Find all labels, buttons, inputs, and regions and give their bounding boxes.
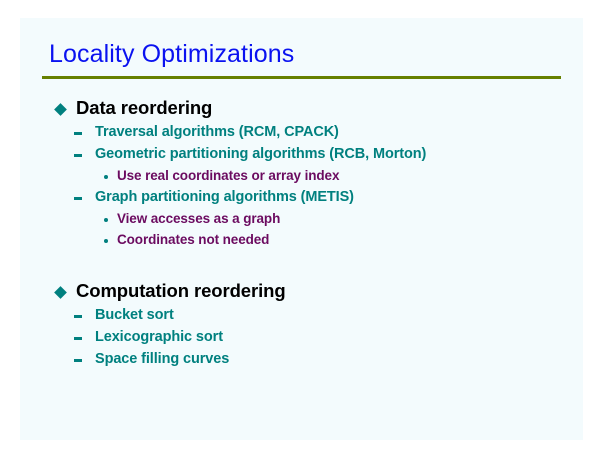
bullet-text: Computation reordering [76, 279, 605, 303]
bullet-text: Space filling curves [95, 349, 605, 370]
title-underline-rule [42, 76, 561, 79]
presentation-slide: Locality Optimizations Data reorderingTr… [0, 0, 605, 468]
bullet-item-level-1: Computation reordering [0, 279, 605, 305]
bullet-item-level-1: Data reordering [0, 96, 605, 122]
slide-content: Locality Optimizations Data reorderingTr… [0, 0, 605, 468]
bullet-text: Use real coordinates or array index [117, 166, 605, 186]
bullet-text: View accesses as a graph [117, 209, 605, 229]
dot-bullet-icon [104, 218, 108, 222]
bullet-item-level-3: Use real coordinates or array index [0, 166, 605, 187]
bullet-text: Lexicographic sort [95, 327, 605, 348]
slide-title: Locality Optimizations [49, 40, 294, 69]
bullet-item-level-2: Bucket sort [0, 305, 605, 327]
dot-bullet-icon [104, 239, 108, 243]
bullet-text: Coordinates not needed [117, 230, 605, 250]
dash-bullet-icon [74, 154, 82, 157]
bullet-item-level-3: View accesses as a graph [0, 209, 605, 230]
dash-bullet-icon [74, 337, 82, 340]
dash-bullet-icon [74, 132, 82, 135]
bullet-text: Traversal algorithms (RCM, CPACK) [95, 122, 605, 143]
dash-bullet-icon [74, 315, 82, 318]
bullet-list: Data reorderingTraversal algorithms (RCM… [0, 96, 605, 371]
bullet-group-spacer [0, 251, 605, 279]
bullet-text: Graph partitioning algorithms (METIS) [95, 187, 605, 208]
diamond-bullet-icon [54, 103, 67, 116]
bullet-text: Bucket sort [95, 305, 605, 326]
dash-bullet-icon [74, 197, 82, 200]
bullet-item-level-2: Graph partitioning algorithms (METIS) [0, 187, 605, 209]
bullet-item-level-2: Space filling curves [0, 349, 605, 371]
bullet-text: Geometric partitioning algorithms (RCB, … [95, 144, 605, 165]
bullet-item-level-2: Lexicographic sort [0, 327, 605, 349]
bullet-item-level-2: Geometric partitioning algorithms (RCB, … [0, 144, 605, 166]
dot-bullet-icon [104, 175, 108, 179]
diamond-bullet-icon [54, 286, 67, 299]
bullet-text: Data reordering [76, 96, 605, 120]
dash-bullet-icon [74, 359, 82, 362]
bullet-item-level-2: Traversal algorithms (RCM, CPACK) [0, 122, 605, 144]
bullet-item-level-3: Coordinates not needed [0, 230, 605, 251]
